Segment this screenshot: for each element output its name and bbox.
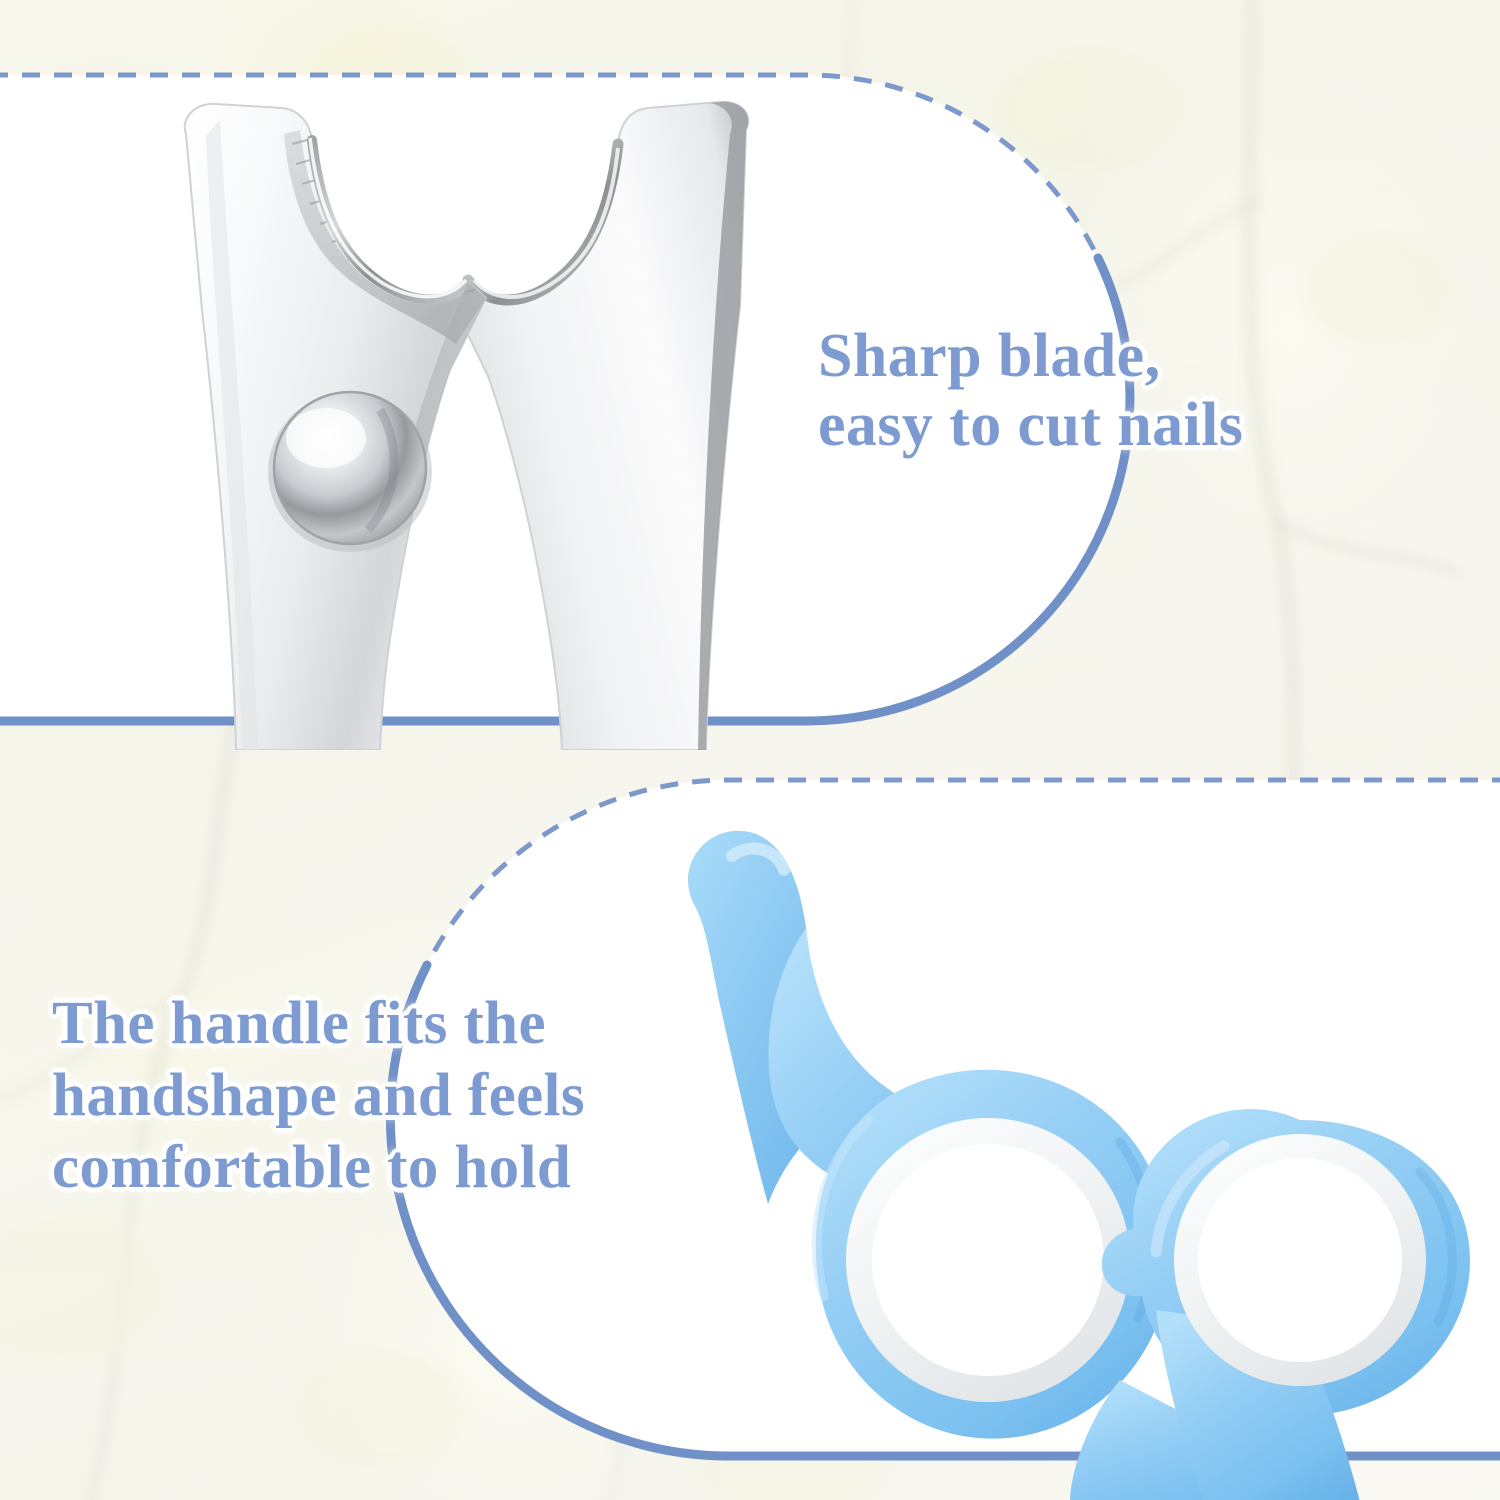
clipper-pivot-rivet bbox=[268, 392, 432, 552]
handle-comfort-heading-line-2: handshape and feels bbox=[52, 1060, 752, 1132]
handle-comfort-heading: The handle fits the handshape and feels … bbox=[52, 988, 752, 1204]
handle-comfort-heading-line-3: comfortable to hold bbox=[52, 1132, 752, 1204]
sharp-blade-heading-line-1: Sharp blade, bbox=[818, 322, 1458, 391]
nail-clipper-blades-image bbox=[150, 90, 790, 750]
sharp-blade-heading-line-2: easy to cut nails bbox=[818, 391, 1458, 460]
sharp-blade-heading: Sharp blade, easy to cut nails bbox=[818, 322, 1458, 461]
product-feature-graphic: Sharp blade, easy to cut nails bbox=[0, 0, 1500, 1500]
clipper-blade-right bbox=[450, 102, 748, 750]
handle-comfort-heading-line-1: The handle fits the bbox=[52, 988, 752, 1060]
